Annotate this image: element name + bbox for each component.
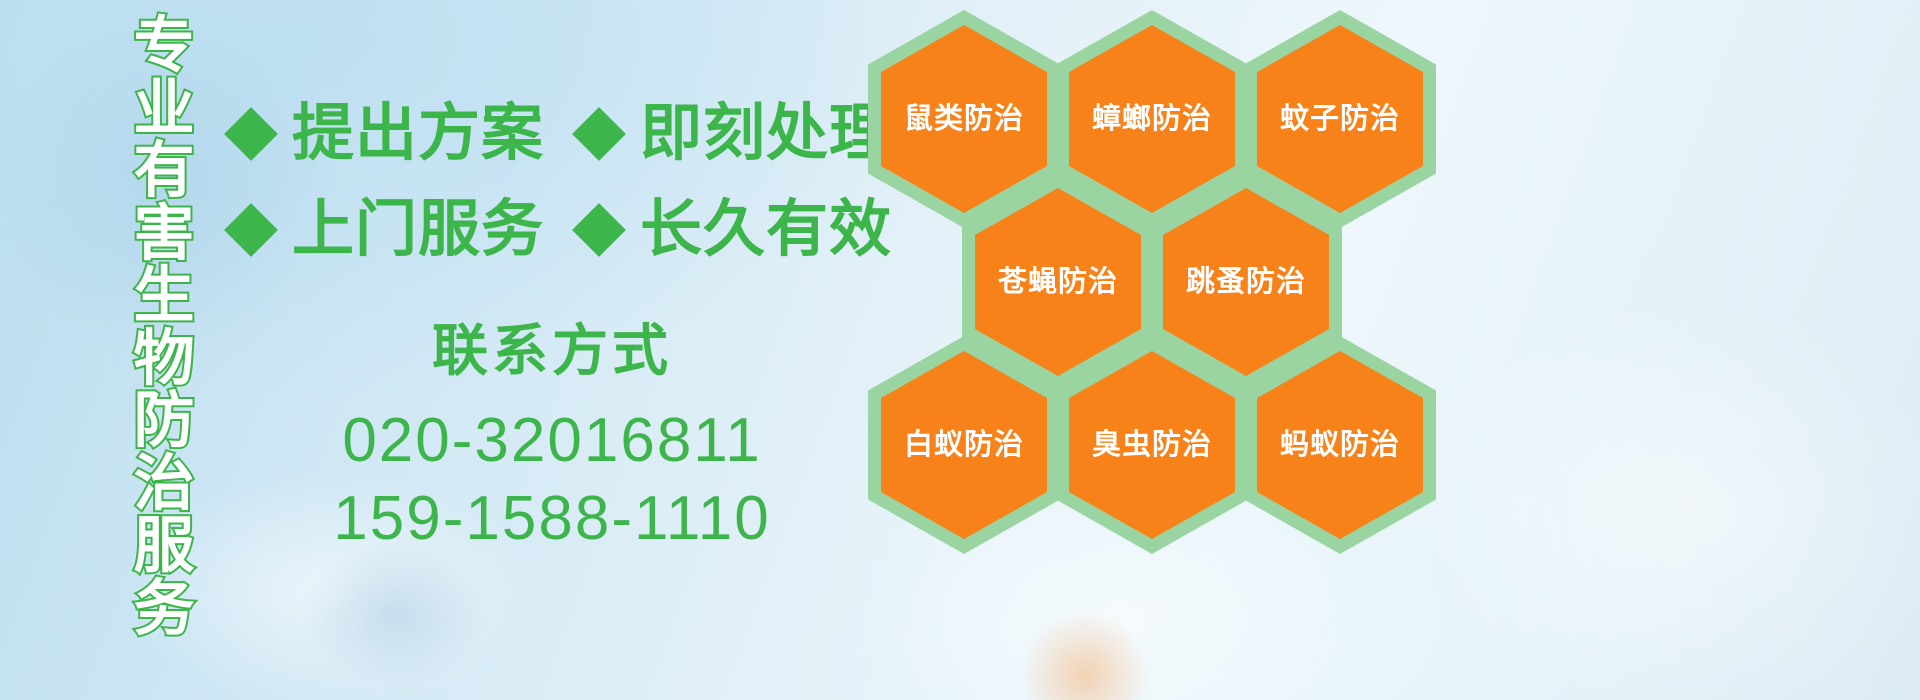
pest-control-banner: 专 业 有 害 生 物 防 治 服 务 提出方案 即刻处理 上门服务 (0, 0, 1920, 700)
feature-label: 即刻处理 (640, 103, 892, 165)
hex-inner-fill: 跳蚤防治 (1163, 188, 1329, 376)
service-label: 跳蚤防治 (1186, 266, 1306, 298)
background-blob-orange (1020, 610, 1150, 700)
feature-row-2: 上门服务 长久有效 (232, 182, 872, 278)
service-label: 蟑螂防治 (1092, 103, 1212, 135)
contact-block: 联系方式 020-32016811 159-1588-1110 (232, 318, 872, 558)
feature-item-propose-plan: 提出方案 (232, 103, 544, 165)
vertical-title-char-1: 业 (133, 77, 194, 140)
service-label: 蚂蚁防治 (1280, 429, 1400, 461)
feature-list: 提出方案 即刻处理 上门服务 长久有效 (232, 86, 872, 278)
vertical-title-char-4: 生 (133, 264, 194, 327)
vertical-title-char-2: 有 (133, 139, 194, 202)
hex-inner-fill: 蚂蚁防治 (1257, 351, 1423, 539)
hex-inner-fill: 鼠类防治 (881, 25, 1047, 213)
service-hex-grid: 鼠类防治 蟑螂防治 蚊子防治 苍蝇防治 跳蚤防治 白蚁防治 (860, 0, 1460, 560)
vertical-title-char-3: 害 (133, 202, 194, 265)
vertical-title-char-5: 物 (133, 327, 194, 390)
diamond-bullet-icon (224, 203, 278, 257)
diamond-bullet-icon (224, 107, 278, 161)
vertical-title-char-0: 专 (133, 14, 194, 77)
background-blob-bottom-left (300, 540, 490, 690)
vertical-title-char-7: 治 (133, 452, 194, 515)
feature-label: 上门服务 (292, 199, 544, 261)
contact-phone-landline[interactable]: 020-32016811 (232, 402, 872, 480)
vertical-title: 专 业 有 害 生 物 防 治 服 务 (112, 14, 216, 574)
vertical-title-char-9: 务 (133, 577, 194, 640)
feature-item-onsite-service: 上门服务 (232, 199, 544, 261)
feature-label: 长久有效 (640, 199, 892, 261)
diamond-bullet-icon (572, 107, 626, 161)
hex-inner-fill: 苍蝇防治 (975, 188, 1141, 376)
service-label: 鼠类防治 (904, 103, 1024, 135)
service-label: 白蚁防治 (904, 429, 1024, 461)
service-label: 臭虫防治 (1092, 429, 1212, 461)
hex-inner-fill: 蚊子防治 (1257, 25, 1423, 213)
background-glow-right (1430, 300, 1920, 700)
feature-label: 提出方案 (292, 103, 544, 165)
diamond-bullet-icon (572, 203, 626, 257)
vertical-title-char-8: 服 (133, 514, 194, 577)
contact-title: 联系方式 (232, 318, 872, 384)
hex-inner-fill: 蟑螂防治 (1069, 25, 1235, 213)
service-label: 蚊子防治 (1280, 103, 1400, 135)
hex-inner-fill: 臭虫防治 (1069, 351, 1235, 539)
service-label: 苍蝇防治 (998, 266, 1118, 298)
feature-row-1: 提出方案 即刻处理 (232, 86, 872, 182)
feature-item-long-lasting: 长久有效 (580, 199, 892, 261)
vertical-title-char-6: 防 (133, 389, 194, 452)
contact-phone-mobile[interactable]: 159-1588-1110 (232, 480, 872, 558)
feature-item-immediate-handling: 即刻处理 (580, 103, 892, 165)
hex-inner-fill: 白蚁防治 (881, 351, 1047, 539)
